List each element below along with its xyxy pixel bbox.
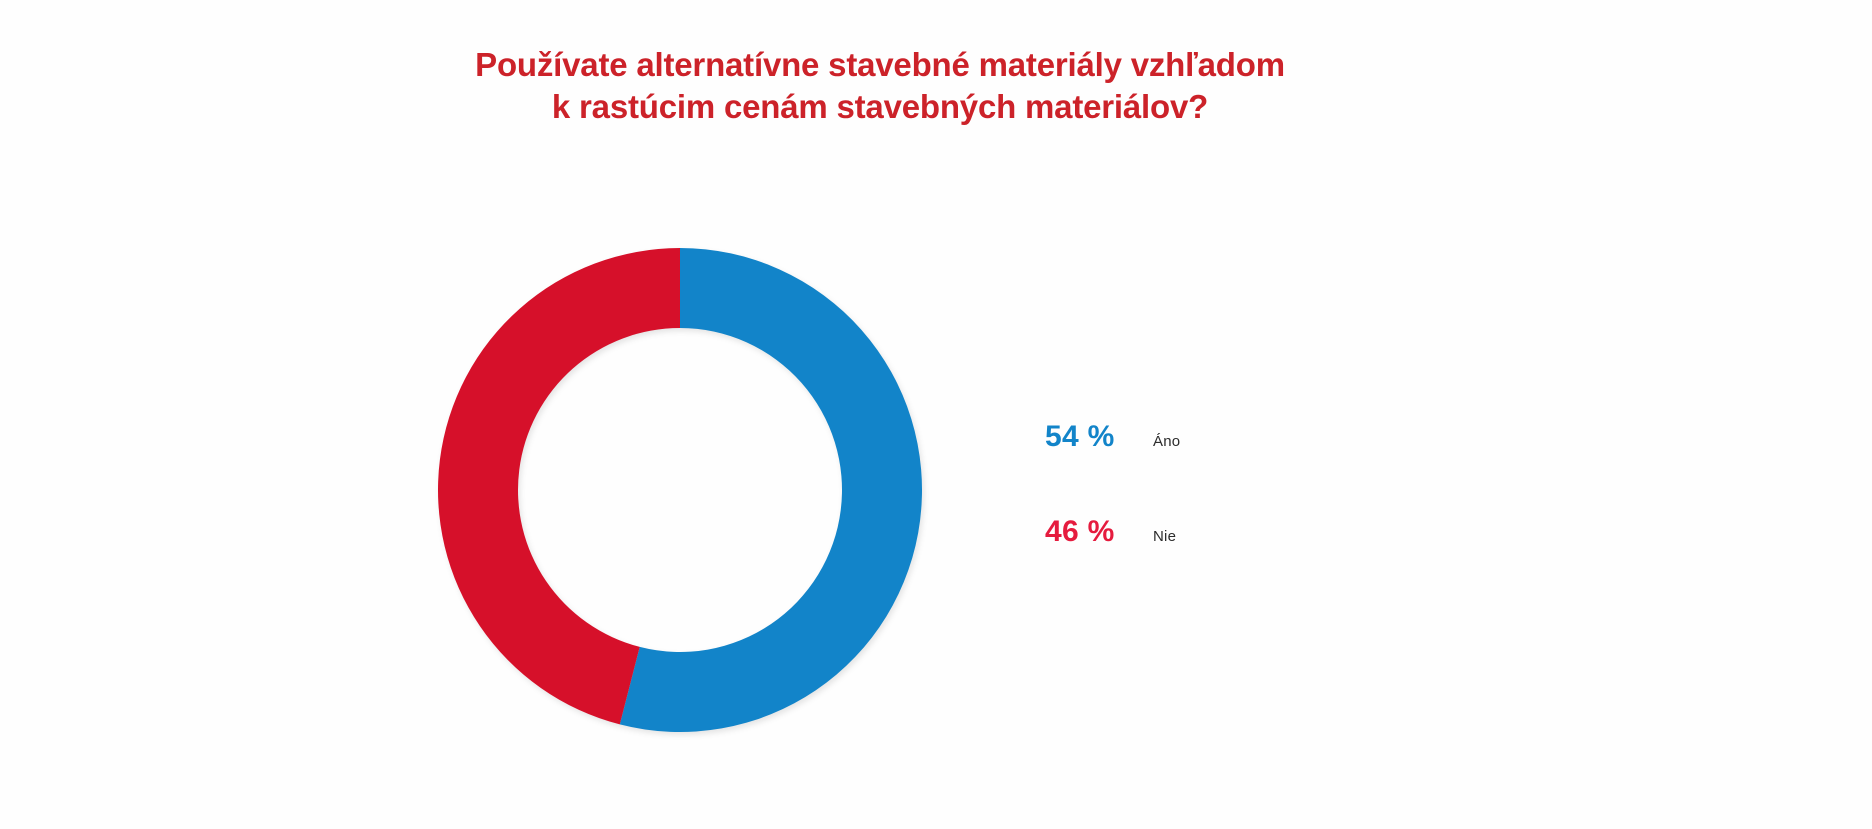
legend-item-nie: 46 % Nie bbox=[1045, 515, 1375, 610]
chart-title: Používate alternatívne stavebné materiál… bbox=[0, 44, 1760, 128]
chart-legend: 54 % Áno 46 % Nie bbox=[1045, 420, 1375, 610]
donut-chart bbox=[438, 248, 922, 732]
chart-title-line-1: Používate alternatívne stavebné materiál… bbox=[0, 44, 1760, 86]
legend-item-ano: 54 % Áno bbox=[1045, 420, 1375, 515]
legend-label-nie: Nie bbox=[1153, 528, 1176, 545]
legend-value-ano: 54 % bbox=[1045, 420, 1153, 454]
legend-label-ano: Áno bbox=[1153, 433, 1180, 450]
chart-page: Používate alternatívne stavebné materiál… bbox=[0, 0, 1872, 829]
donut-slice-group bbox=[438, 248, 922, 732]
chart-title-line-2: k rastúcim cenám stavebných materiálov? bbox=[0, 86, 1760, 128]
donut-chart-svg bbox=[438, 248, 922, 732]
legend-value-nie: 46 % bbox=[1045, 515, 1153, 549]
